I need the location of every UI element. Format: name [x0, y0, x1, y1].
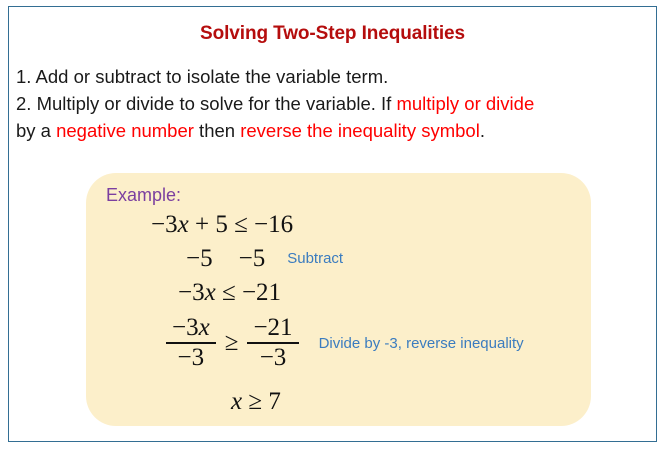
fraction-left-denominator: −3 [172, 344, 211, 371]
equation-step-1-text: −3x + 5 ≤ −16 [151, 211, 293, 238]
example-label: Example: [106, 185, 181, 206]
equation-step-3: −3x ≤ −21 [178, 279, 281, 307]
equation-step-5: x ≥ 7 [231, 388, 281, 416]
fraction-left-numerator: −3x [166, 315, 216, 342]
annotation-divide: Divide by -3, reverse inequality [319, 335, 524, 352]
fraction-right-denominator: −3 [254, 344, 293, 371]
fraction-right: −21 −3 [247, 315, 298, 371]
equation-step-5-text: x ≥ 7 [231, 388, 281, 415]
lesson-card: Solving Two-Step Inequalities 1. Add or … [8, 6, 657, 442]
equation-step-4: −3x −3 ≥ −21 −3 Divide by -3, reverse in… [166, 315, 524, 371]
example-panel: Example: −3x + 5 ≤ −16 −5−5Subtract −3x … [86, 173, 591, 426]
rule-line-1: 1. Add or subtract to isolate the variab… [16, 63, 652, 90]
equation-step-3-text: −3x ≤ −21 [178, 279, 281, 306]
fraction-left: −3x −3 [166, 315, 216, 371]
rule-line-3: by a negative number then reverse the in… [16, 117, 652, 144]
rule-3-text-period: . [480, 120, 485, 141]
rule-line-2: 2. Multiply or divide to solve for the v… [16, 90, 652, 117]
annotation-subtract: Subtract [287, 250, 343, 267]
fraction-right-numerator: −21 [247, 315, 298, 342]
rule-2-text-highlight: multiply or divide [396, 93, 534, 114]
page-title: Solving Two-Step Inequalities [9, 23, 656, 45]
rule-3-text-highlight-b: reverse the inequality symbol [240, 120, 480, 141]
rule-3-text-plain-a: by a [16, 120, 56, 141]
rules-list: 1. Add or subtract to isolate the variab… [16, 63, 652, 144]
rule-3-text-plain-b: then [194, 120, 240, 141]
equation-step-1: −3x + 5 ≤ −16 [151, 211, 293, 239]
rule-3-text-highlight-a: negative number [56, 120, 194, 141]
equation-step-2: −5−5Subtract [186, 245, 343, 273]
rule-2-text-plain: 2. Multiply or divide to solve for the v… [16, 93, 396, 114]
relation-symbol: ≥ [225, 329, 239, 357]
rule-1-text: 1. Add or subtract to isolate the variab… [16, 66, 388, 87]
equation-step-2-right: −5 [239, 245, 266, 272]
equation-step-2-left: −5 [186, 245, 213, 272]
